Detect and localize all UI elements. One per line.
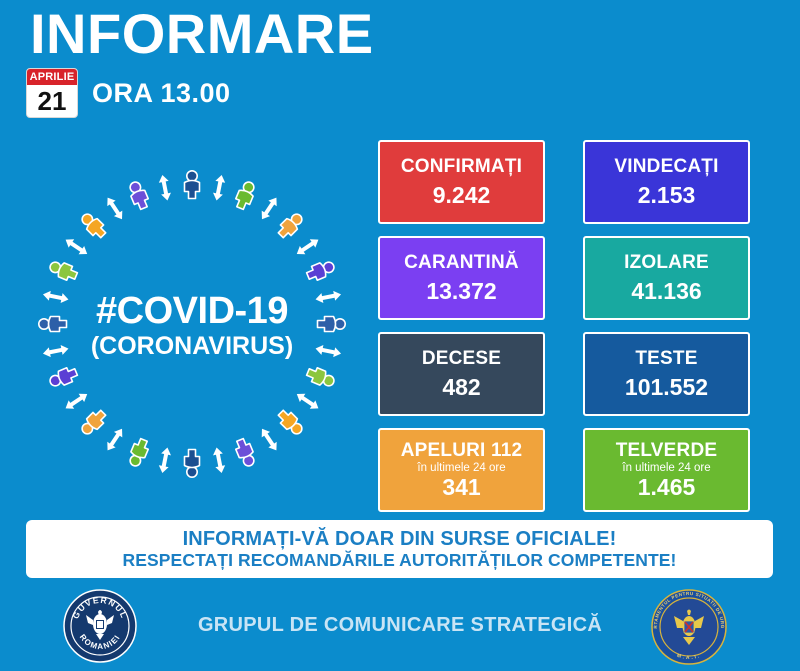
calendar-day-label: 21 <box>27 85 77 117</box>
person-icon <box>305 258 336 282</box>
stat-value: 341 <box>442 475 480 499</box>
date-row: APRILIE 21 ORA 13.00 <box>26 68 231 118</box>
infographic-root: INFORMARE APRILIE 21 ORA 13.00 #COVID-19… <box>0 0 800 671</box>
stat-label: TELVERDE <box>616 441 718 461</box>
distance-arrow-icon <box>212 447 227 474</box>
distance-arrow-icon <box>103 195 126 222</box>
stat-value: 482 <box>442 375 480 399</box>
stat-card-vindecati: VINDECAȚI2.153 <box>583 140 750 224</box>
stat-value: 13.372 <box>426 279 496 303</box>
person-icon <box>185 171 200 199</box>
distance-arrow-icon <box>103 426 126 453</box>
covid-hashtag: #COVID-19 <box>22 292 362 330</box>
distance-arrow-icon <box>294 390 321 413</box>
person-icon <box>305 365 336 389</box>
stat-card-carantina: CARANTINĂ13.372 <box>378 236 545 320</box>
calendar-month-label: APRILIE <box>27 69 77 85</box>
distance-arrow-icon <box>294 235 321 258</box>
person-icon <box>126 180 150 211</box>
stat-value: 41.136 <box>631 279 701 303</box>
stat-card-teste: TESTE101.552 <box>583 332 750 416</box>
stat-value: 101.552 <box>625 375 708 399</box>
page-title: INFORMARE <box>30 6 374 62</box>
person-icon <box>275 210 305 240</box>
stats-grid: CONFIRMAȚI9.242VINDECAȚI2.153CARANTINĂ13… <box>378 140 773 512</box>
departamentul-situatii-urgenta-seal-icon: DEPARTAMENTUL PENTRU SITUATII DE URGENTA… <box>650 588 728 671</box>
stat-card-apeluri-112: APELURI 112în ultimele 24 ore341 <box>378 428 545 512</box>
stat-label: CONFIRMAȚI <box>401 157 522 177</box>
person-icon <box>78 210 108 240</box>
covid-ring-graphic: #COVID-19 (CORONAVIRUS) <box>22 152 362 497</box>
person-icon <box>48 365 79 389</box>
person-icon <box>78 407 108 437</box>
stat-sublabel: în ultimele 24 ore <box>417 462 505 475</box>
person-icon <box>275 407 305 437</box>
person-icon <box>233 437 257 468</box>
stat-label: CARANTINĂ <box>404 253 519 273</box>
distance-arrow-icon <box>63 235 90 258</box>
stat-label: IZOLARE <box>624 253 709 273</box>
stat-label: DECESE <box>422 349 501 369</box>
stat-value: 2.153 <box>638 183 696 207</box>
hour-label: ORA 13.00 <box>92 78 231 109</box>
person-icon <box>48 258 79 282</box>
distance-arrow-icon <box>258 195 281 222</box>
covid-subtitle: (CORONAVIRUS) <box>22 332 362 361</box>
distance-arrow-icon <box>63 390 90 413</box>
person-icon <box>185 450 200 478</box>
stat-label: APELURI 112 <box>401 441 523 461</box>
stat-card-telverde: TELVERDEîn ultimele 24 ore1.465 <box>583 428 750 512</box>
covid-center-text: #COVID-19 (CORONAVIRUS) <box>22 292 362 361</box>
official-sources-banner: INFORMAȚI-VĂ DOAR DIN SURSE OFICIALE! RE… <box>26 520 773 578</box>
stat-value: 1.465 <box>638 475 696 499</box>
stat-label: VINDECAȚI <box>614 157 718 177</box>
stats-panel: CONFIRMAȚI9.242VINDECAȚI2.153CARANTINĂ13… <box>378 140 773 512</box>
stat-card-izolare: IZOLARE41.136 <box>583 236 750 320</box>
footer: GUVERNUL ROMANIEI GRUPUL DE COMUNICARE S… <box>0 586 800 671</box>
distance-arrow-icon <box>157 174 172 201</box>
person-icon <box>126 437 150 468</box>
stat-value: 9.242 <box>433 183 491 207</box>
distance-arrow-icon <box>212 174 227 201</box>
banner-line-2: RESPECTAȚI RECOMANDĂRILE AUTORITĂȚILOR C… <box>123 550 677 570</box>
person-icon <box>233 180 257 211</box>
stat-label: TESTE <box>635 349 697 369</box>
stat-card-confirmati: CONFIRMAȚI9.242 <box>378 140 545 224</box>
calendar-icon: APRILIE 21 <box>26 68 78 118</box>
distance-arrow-icon <box>258 426 281 453</box>
banner-line-1: INFORMAȚI-VĂ DOAR DIN SURSE OFICIALE! <box>183 528 617 550</box>
stat-sublabel: în ultimele 24 ore <box>622 462 710 475</box>
stat-card-decese: DECESE482 <box>378 332 545 416</box>
distance-arrow-icon <box>157 447 172 474</box>
